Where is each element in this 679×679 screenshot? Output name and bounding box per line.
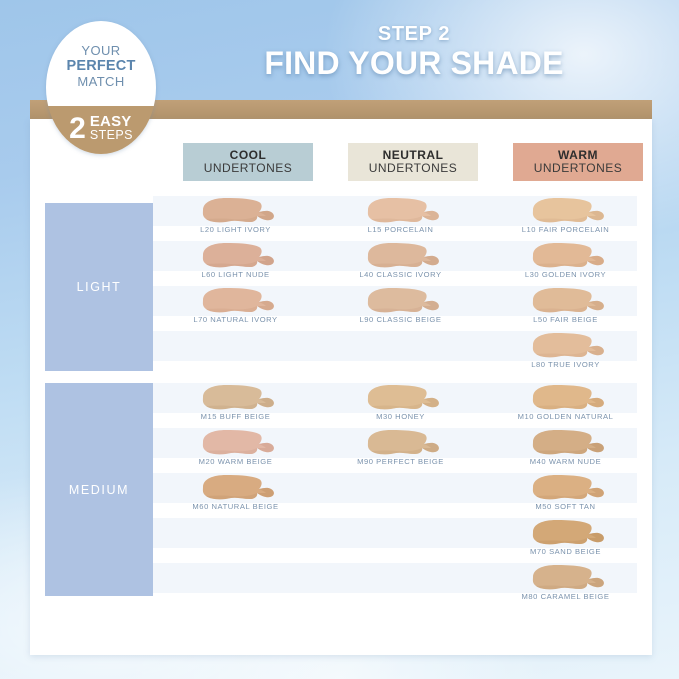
badge-line-match: MATCH [77,75,124,90]
shade-swatch-icon [483,196,648,226]
badge-line-perfect: PERFECT [66,58,135,74]
shade-label: L30 GOLDEN IVORY [483,270,648,279]
column-header-neutral-title: NEUTRAL [383,149,444,162]
shade-swatch-icon [318,428,483,458]
shade-cell-l60[interactable]: L60 LIGHT NUDE [153,241,318,286]
shade-label: L90 CLASSIC BEIGE [318,315,483,324]
shade-label: M90 PERFECT BEIGE [318,457,483,466]
shade-swatch-icon [153,286,318,316]
shade-swatch-icon [153,196,318,226]
shade-swatch-icon [483,473,648,503]
column-header-warm-title: WARM [558,149,598,162]
shade-label: M40 WARM NUDE [483,457,648,466]
shade-label: M30 HONEY [318,412,483,421]
shade-cell-l70[interactable]: L70 NATURAL IVORY [153,286,318,331]
shade-cell-m20[interactable]: M20 WARM BEIGE [153,428,318,473]
column-header-warm: WARM UNDERTONES [513,143,643,181]
shade-cell-l80[interactable]: L80 TRUE IVORY [483,331,648,376]
shade-label: M50 SOFT TAN [483,502,648,511]
shade-swatch-icon [318,241,483,271]
shade-label: M70 SAND BEIGE [483,547,648,556]
shade-swatch-icon [153,473,318,503]
shade-cell-m40[interactable]: M40 WARM NUDE [483,428,648,473]
shade-label: M10 GOLDEN NATURAL [483,412,648,421]
shade-swatch-icon [483,241,648,271]
column-header-neutral-subtitle: UNDERTONES [369,162,458,175]
badge-steps-stack: EASY STEPS [90,114,133,142]
group-label-light: LIGHT [77,280,122,294]
shade-swatch-icon [483,383,648,413]
badge-line-easy: EASY [90,114,133,129]
shade-cell-m50[interactable]: M50 SOFT TAN [483,473,648,518]
shade-cell-l10[interactable]: L10 FAIR PORCELAIN [483,196,648,241]
shade-label: L70 NATURAL IVORY [153,315,318,324]
shade-swatch-icon [153,383,318,413]
shade-label: M15 BUFF BEIGE [153,412,318,421]
shade-cell-l50[interactable]: L50 FAIR BEIGE [483,286,648,331]
shade-label: L50 FAIR BEIGE [483,315,648,324]
shade-cell-m10[interactable]: M10 GOLDEN NATURAL [483,383,648,428]
badge-line-steps: STEPS [90,129,133,142]
header-title-block: STEP 2 FIND YOUR SHADE [175,24,653,81]
column-header-cool-title: COOL [230,149,267,162]
shade-cell-l40[interactable]: L40 CLASSIC IVORY [318,241,483,286]
shade-swatch-icon [483,563,648,593]
group-panel-light: LIGHT [45,203,153,371]
shade-swatch-icon [318,196,483,226]
badge-step-number: 2 [69,115,86,142]
column-header-cool: COOL UNDERTONES [183,143,313,181]
page-title: FIND YOUR SHADE [175,46,653,81]
shade-label: L40 CLASSIC IVORY [318,270,483,279]
shade-cell-l20[interactable]: L20 LIGHT IVORY [153,196,318,241]
group-panel-medium: MEDIUM [45,383,153,596]
shade-swatch-icon [483,331,648,361]
shade-cell-l15[interactable]: L15 PORCELAIN [318,196,483,241]
shade-swatch-icon [483,428,648,458]
column-header-warm-subtitle: UNDERTONES [534,162,623,175]
step-label: STEP 2 [175,24,653,45]
shade-label: L80 TRUE IVORY [483,360,648,369]
shade-swatch-icon [483,286,648,316]
shade-swatch-icon [153,241,318,271]
shade-cell-m60[interactable]: M60 NATURAL BEIGE [153,473,318,518]
column-header-neutral: NEUTRAL UNDERTONES [348,143,478,181]
shade-label: M20 WARM BEIGE [153,457,318,466]
perfect-match-badge: YOUR PERFECT MATCH 2 EASY STEPS [46,21,156,154]
column-header-cool-subtitle: UNDERTONES [204,162,293,175]
shade-cell-m30[interactable]: M30 HONEY [318,383,483,428]
shade-label: L10 FAIR PORCELAIN [483,225,648,234]
badge-top-half: YOUR PERFECT MATCH [46,21,156,106]
shade-label: L20 LIGHT IVORY [153,225,318,234]
shade-cell-m70[interactable]: M70 SAND BEIGE [483,518,648,563]
shade-swatch-icon [318,286,483,316]
shade-label: L15 PORCELAIN [318,225,483,234]
shade-cell-m90[interactable]: M90 PERFECT BEIGE [318,428,483,473]
shade-swatch-icon [153,428,318,458]
shade-cell-l90[interactable]: L90 CLASSIC BEIGE [318,286,483,331]
badge-bottom-half: 2 EASY STEPS [46,106,156,154]
shade-label: M80 CARAMEL BEIGE [483,592,648,601]
shade-label: M60 NATURAL BEIGE [153,502,318,511]
group-label-medium: MEDIUM [69,483,129,497]
badge-line-your: YOUR [81,44,120,59]
shade-swatch-icon [483,518,648,548]
shade-label: L60 LIGHT NUDE [153,270,318,279]
shade-cell-m15[interactable]: M15 BUFF BEIGE [153,383,318,428]
shade-swatch-icon [318,383,483,413]
shade-cell-l30[interactable]: L30 GOLDEN IVORY [483,241,648,286]
shade-cell-m80[interactable]: M80 CARAMEL BEIGE [483,563,648,608]
